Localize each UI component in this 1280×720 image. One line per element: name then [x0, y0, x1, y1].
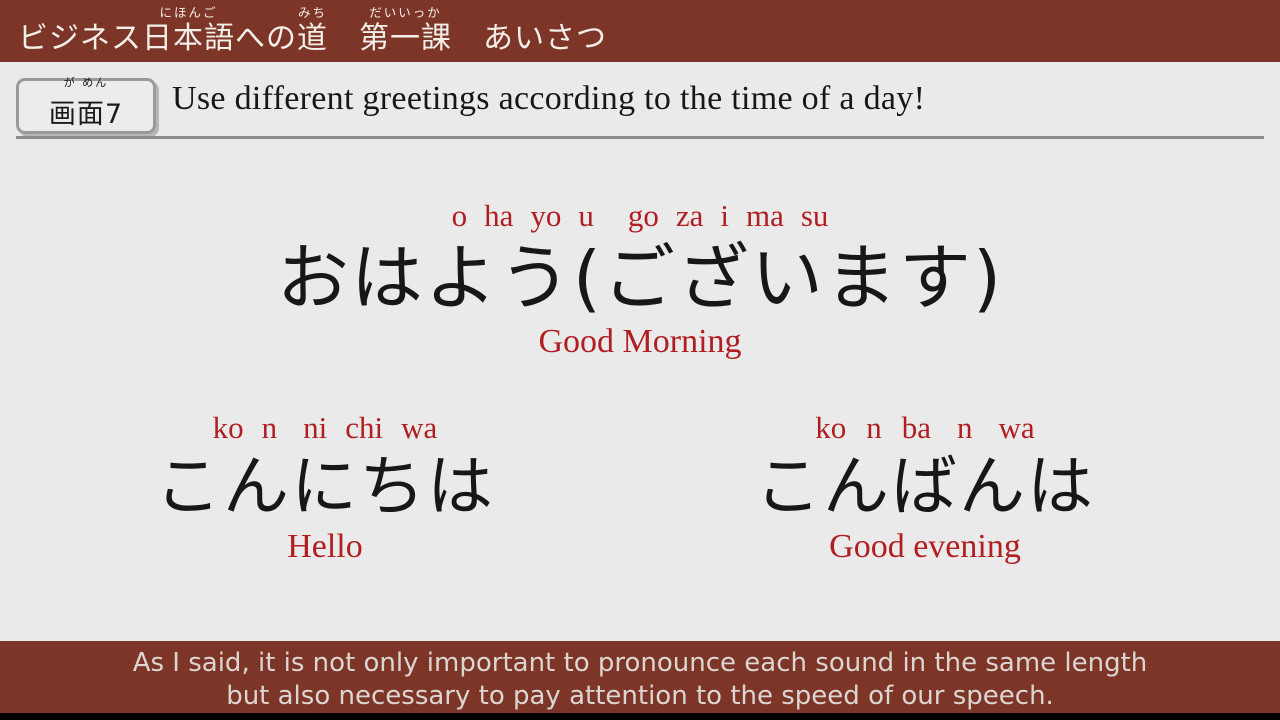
title-segment-heno: への — [235, 24, 297, 54]
phrase-block-evening: konbanwa こんばんは Good evening — [630, 412, 1220, 564]
romaji-syllable: i — [720, 200, 729, 231]
romaji-syllable: o — [452, 200, 468, 231]
romaji-syllable: n — [262, 412, 278, 443]
romaji-syllable: chi — [345, 412, 383, 443]
romaji-syllable: ma — [746, 200, 784, 231]
screen-number-badge: が めん 画面7 — [16, 78, 156, 134]
meaning-morning: Good Morning — [0, 325, 1280, 359]
romaji-syllable: za — [676, 200, 704, 231]
furigana-gamen: が めん — [64, 77, 109, 88]
badge-label: 画面7 — [49, 99, 123, 130]
romaji-syllable: wa — [401, 412, 437, 443]
meaning-evening: Good evening — [630, 530, 1220, 564]
page-title: Use different greetings according to the… — [172, 80, 925, 118]
romaji-syllable: su — [801, 200, 829, 231]
title-segment-base: 日本語 — [142, 21, 235, 56]
romaji-syllable: ni — [303, 412, 327, 443]
bottom-edge — [0, 713, 1280, 720]
title-segment-base — [328, 21, 359, 56]
romaji-syllable: ha — [484, 200, 513, 231]
kana-morning: おはよう(ございます) — [0, 237, 1280, 321]
phrase-stage: ohayougozaimasu おはよう(ございます) Good Morning… — [0, 140, 1280, 640]
title-segment-space — [328, 24, 359, 54]
title-segment-base: への — [235, 21, 297, 56]
romaji-syllable: ko — [213, 412, 244, 443]
title-segment-daiikka: だいいっか 第一課 — [359, 24, 452, 54]
badge-content: が めん 画面7 — [49, 87, 123, 114]
furigana-daiikka: だいいっか — [369, 7, 442, 20]
kana-evening: こんばんは — [630, 449, 1220, 526]
furigana-michi: みち — [298, 7, 327, 20]
title-segment-aisatsu: あいさつ — [452, 24, 607, 54]
phrase-block-hello: konnichiwa こんにちは Hello — [30, 412, 620, 564]
phrase-block-morning: ohayougozaimasu おはよう(ございます) Good Morning — [0, 200, 1280, 359]
subtitle-bar: As I said, it is not only important to p… — [0, 641, 1280, 713]
title-segment-base: 道 — [297, 21, 328, 56]
romaji-syllable: n — [866, 412, 882, 443]
romaji-hello: konnichiwa — [30, 412, 620, 443]
lesson-title: ビジネス にほんご 日本語 への みち 道 だいいっか 第一課 あいさつ — [18, 24, 607, 54]
romaji-syllable: go — [628, 200, 659, 231]
title-segment-base: あいさつ — [452, 21, 607, 56]
romaji-morning: ohayougozaimasu — [0, 200, 1280, 231]
title-bar: ビジネス にほんご 日本語 への みち 道 だいいっか 第一課 あいさつ — [0, 0, 1280, 62]
title-segment-base: 第一課 — [359, 21, 452, 56]
romaji-syllable: yo — [530, 200, 561, 231]
header-divider — [16, 136, 1264, 139]
title-segment-business: ビジネス — [18, 24, 142, 54]
romaji-syllable: wa — [999, 412, 1035, 443]
romaji-syllable: ko — [815, 412, 846, 443]
romaji-syllable: ba — [902, 412, 931, 443]
romaji-syllable: n — [957, 412, 973, 443]
title-segment-base: ビジネス — [18, 21, 142, 56]
subtitle-line-2: but also necessary to pay attention to t… — [0, 680, 1280, 713]
meaning-hello: Hello — [30, 530, 620, 564]
header-row: が めん 画面7 Use different greetings accordi… — [0, 76, 1280, 138]
kana-hello: こんにちは — [30, 449, 620, 526]
furigana-nihongo: にほんご — [159, 7, 217, 20]
subtitle-line-1: As I said, it is not only important to p… — [0, 647, 1280, 680]
romaji-evening: konbanwa — [630, 412, 1220, 443]
title-segment-michi: みち 道 — [297, 24, 328, 54]
romaji-syllable: u — [578, 200, 594, 231]
title-segment-nihongo: にほんご 日本語 — [142, 24, 235, 54]
